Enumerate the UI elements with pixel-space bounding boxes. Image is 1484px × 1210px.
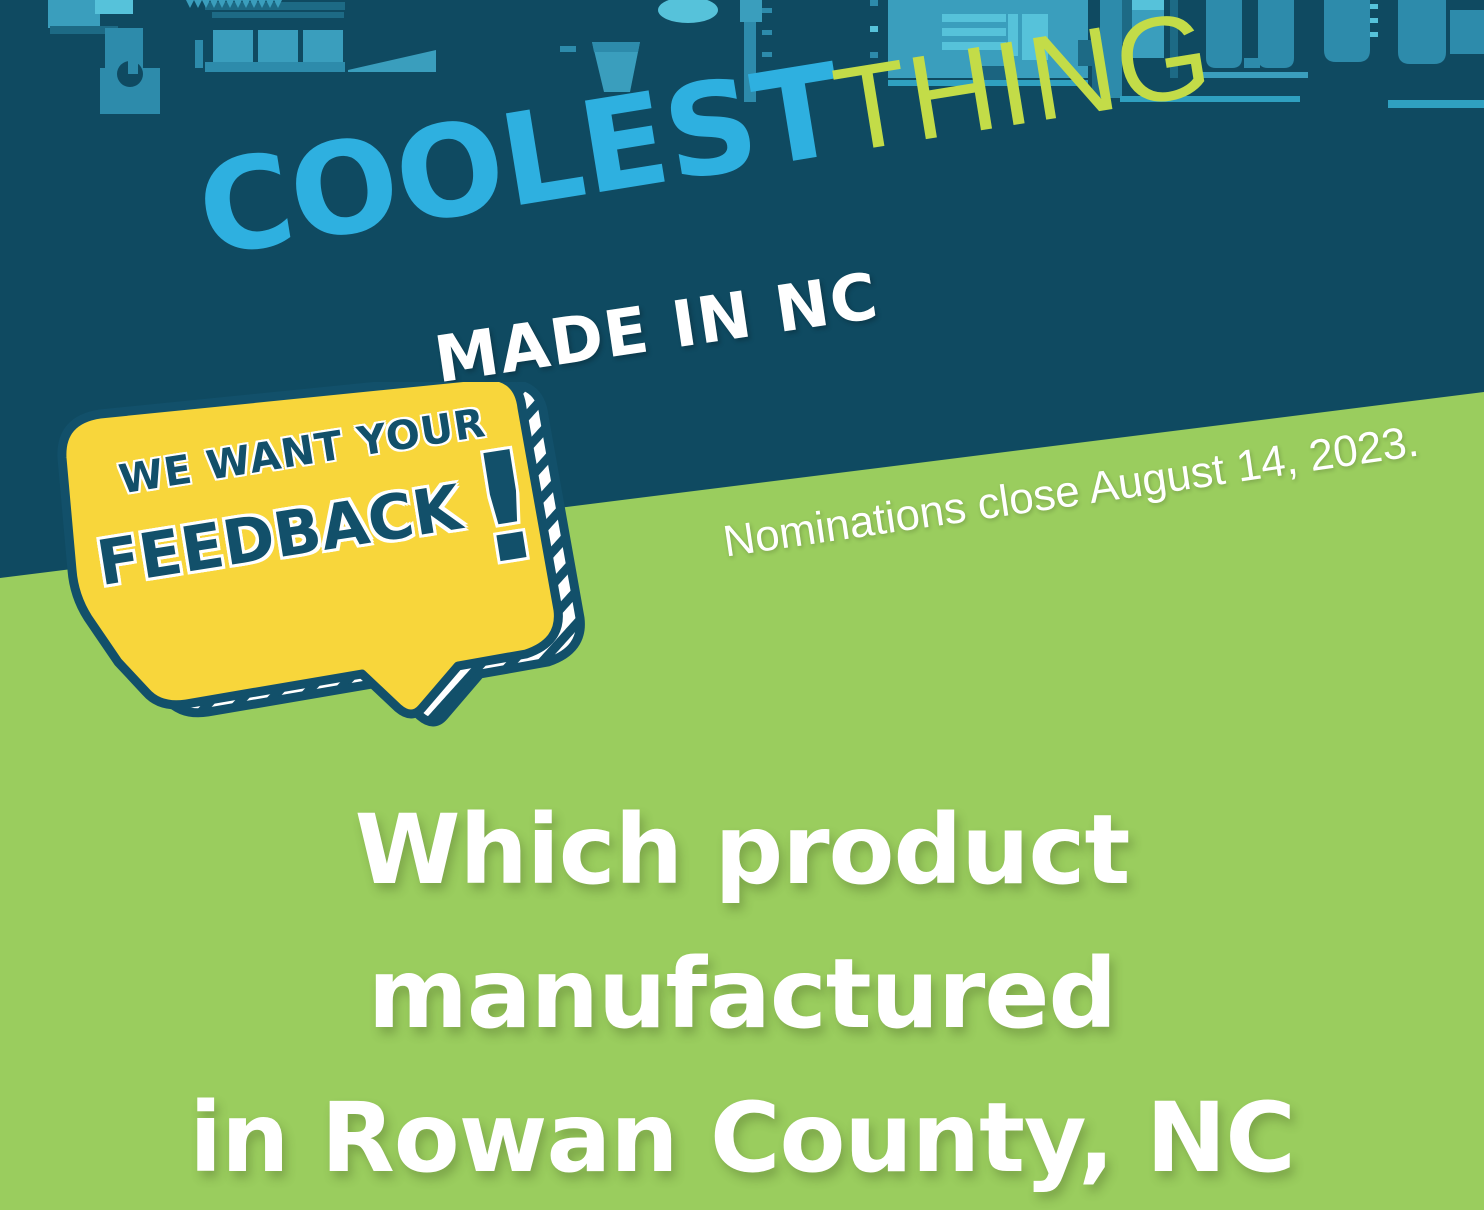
coolest-thing-made-in-nc-poster: COOLEST THING MADE IN NC Nominations clo…: [0, 0, 1484, 1210]
speech-bubble-shape: [48, 382, 608, 772]
question-line-1: Which product manufactured: [0, 778, 1484, 1066]
question-line-2: in Rowan County, NC: [0, 1066, 1484, 1210]
main-question: Which product manufactured in Rowan Coun…: [0, 778, 1484, 1210]
feedback-speech-bubble-badge: WE WANT YOUR FEEDBACK !: [48, 382, 608, 772]
